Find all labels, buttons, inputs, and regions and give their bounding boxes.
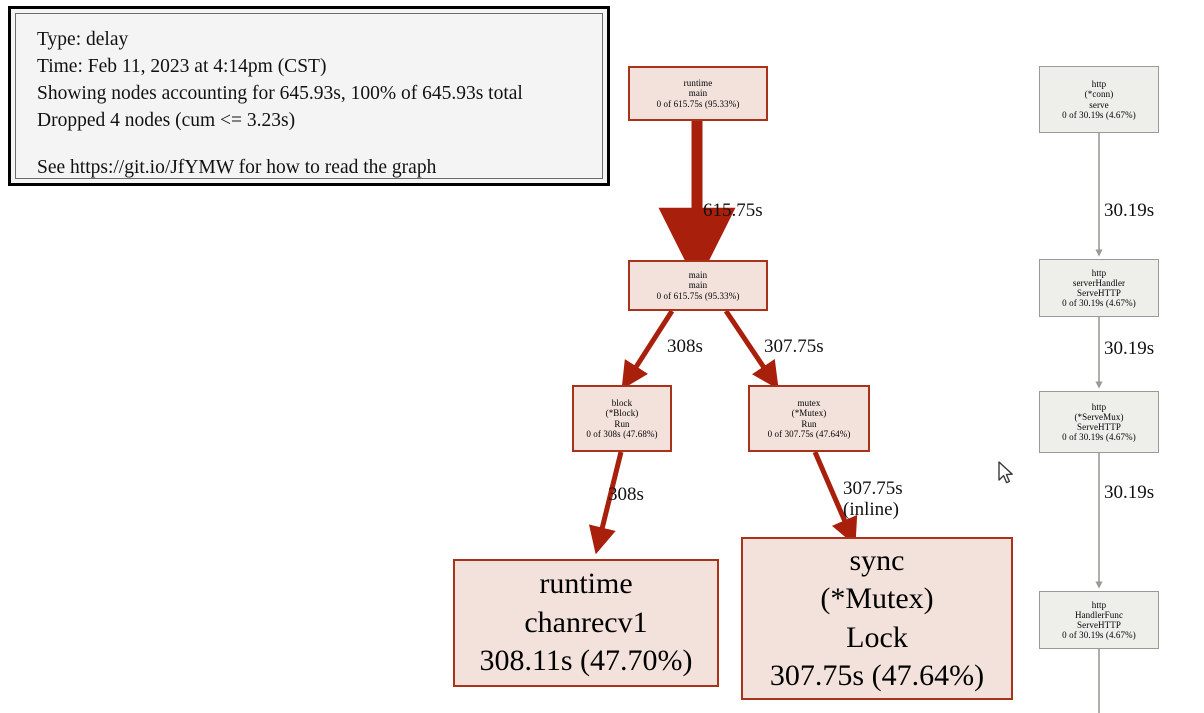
- node-line: ServeHTTP: [1077, 422, 1121, 432]
- pprof-graph-canvas: Type: delay Time: Feb 11, 2023 at 4:14pm…: [0, 0, 1204, 713]
- node-line: Run: [614, 419, 629, 429]
- node-line: main: [689, 270, 707, 280]
- node-line: chanrecv1: [524, 604, 647, 642]
- edge-label-30-19s-1: 30.19s: [1104, 199, 1154, 222]
- node-http-serverhandler-servehttp[interactable]: http serverHandler ServeHTTP 0 of 30.19s…: [1039, 259, 1159, 317]
- edge-label-307-75s-mutex: 307.75s: [764, 335, 824, 358]
- node-line: http: [1092, 600, 1106, 610]
- legend-line-help-link: See https://git.io/JfYMW for how to read…: [37, 154, 602, 181]
- node-line: 0 of 30.19s (4.67%): [1062, 298, 1136, 308]
- node-runtime-chanrecv1[interactable]: runtime chanrecv1 308.11s (47.70%): [453, 559, 719, 687]
- node-line: http: [1092, 402, 1106, 412]
- legend-line-showing-nodes: Showing nodes accounting for 645.93s, 10…: [37, 80, 602, 107]
- node-line: serve: [1089, 100, 1109, 110]
- node-line: HandlerFunc: [1075, 610, 1123, 620]
- node-line: (*Block): [606, 408, 639, 418]
- node-line: 307.75s (47.64%): [770, 657, 984, 695]
- edge-label-615-75s: 615.75s: [703, 199, 763, 222]
- node-line: 0 of 30.19s (4.67%): [1062, 110, 1136, 120]
- node-line: 0 of 30.19s (4.67%): [1062, 630, 1136, 640]
- node-line: 0 of 308s (47.68%): [586, 429, 657, 439]
- node-line: 0 of 615.75s (95.33%): [657, 99, 740, 109]
- mouse-pointer-icon: [997, 461, 1015, 485]
- node-line: http: [1092, 268, 1106, 278]
- node-line: 0 of 307.75s (47.64%): [768, 429, 851, 439]
- node-line: (*conn): [1085, 89, 1114, 99]
- node-mutex-run[interactable]: mutex (*Mutex) Run 0 of 307.75s (47.64%): [748, 385, 870, 452]
- node-line: Lock: [846, 619, 908, 657]
- edge-label-inline: (inline): [843, 498, 899, 521]
- edge-label-30-19s-2: 30.19s: [1104, 337, 1154, 360]
- legend-box: Type: delay Time: Feb 11, 2023 at 4:14pm…: [8, 6, 610, 186]
- node-line: serverHandler: [1073, 278, 1125, 288]
- legend-line-dropped-nodes: Dropped 4 nodes (cum <= 3.23s): [37, 107, 602, 134]
- node-line: main: [689, 280, 707, 290]
- node-line: runtime: [684, 78, 713, 88]
- edge-mainmain-to-block: [629, 311, 672, 378]
- node-sync-mutex-lock[interactable]: sync (*Mutex) Lock 307.75s (47.64%): [741, 537, 1013, 700]
- node-line: 0 of 30.19s (4.67%): [1062, 432, 1136, 442]
- legend-box-inner: Type: delay Time: Feb 11, 2023 at 4:14pm…: [15, 13, 603, 179]
- edge-label-307-75s-lock: 307.75s: [843, 477, 903, 500]
- node-line: ServeHTTP: [1077, 620, 1121, 630]
- legend-line-time: Time: Feb 11, 2023 at 4:14pm (CST): [37, 53, 602, 80]
- node-line: ServeHTTP: [1077, 288, 1121, 298]
- edge-label-30-19s-3: 30.19s: [1104, 481, 1154, 504]
- node-line: (*Mutex): [792, 408, 827, 418]
- node-line: (*Mutex): [820, 580, 933, 618]
- edge-label-308s-chanrecv: 308s: [608, 483, 644, 506]
- node-http-servemux-servehttp[interactable]: http (*ServeMux) ServeHTTP 0 of 30.19s (…: [1039, 391, 1159, 453]
- edge-label-308s-block: 308s: [667, 335, 703, 358]
- node-line: block: [612, 398, 633, 408]
- node-line: runtime: [539, 565, 632, 603]
- node-main-main[interactable]: main main 0 of 615.75s (95.33%): [628, 260, 768, 311]
- node-http-conn-serve[interactable]: http (*conn) serve 0 of 30.19s (4.67%): [1039, 66, 1159, 133]
- node-line: 0 of 615.75s (95.33%): [657, 291, 740, 301]
- node-line: 308.11s (47.70%): [479, 642, 692, 680]
- node-block-run[interactable]: block (*Block) Run 0 of 308s (47.68%): [572, 385, 672, 452]
- node-line: sync: [850, 542, 905, 580]
- node-line: http: [1092, 79, 1106, 89]
- legend-spacer: [37, 134, 602, 154]
- node-line: mutex: [798, 398, 821, 408]
- node-runtime-main[interactable]: runtime main 0 of 615.75s (95.33%): [628, 66, 768, 121]
- node-http-handlerfunc-servehttp[interactable]: http HandlerFunc ServeHTTP 0 of 30.19s (…: [1039, 591, 1159, 649]
- node-line: Run: [801, 419, 816, 429]
- node-line: (*ServeMux): [1074, 412, 1123, 422]
- node-line: main: [689, 88, 707, 98]
- legend-line-type: Type: delay: [37, 26, 602, 53]
